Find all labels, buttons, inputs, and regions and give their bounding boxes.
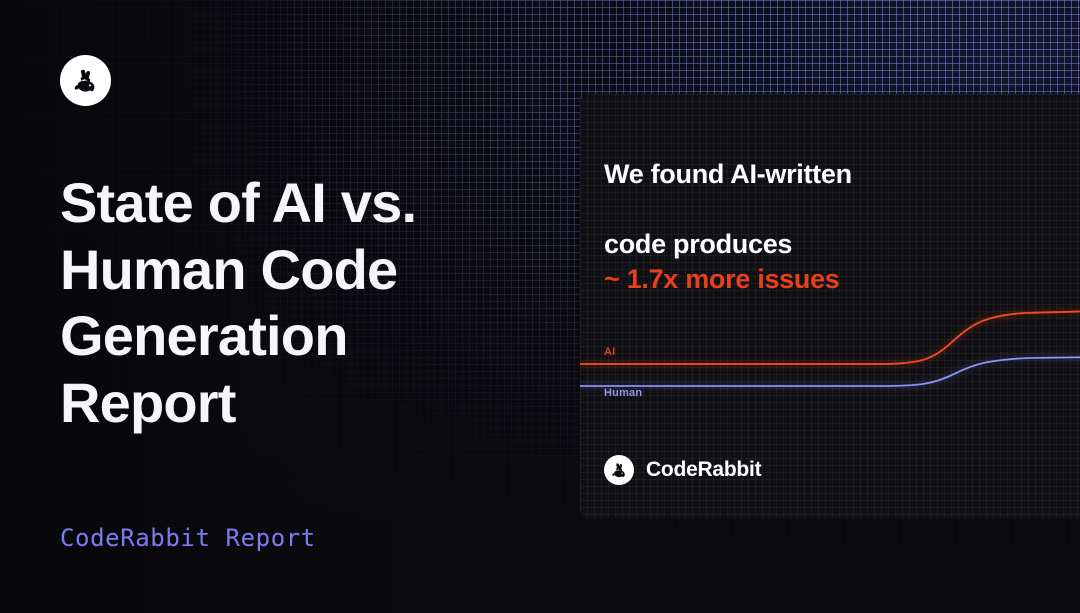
page-title: State of AI vs. Human Code Generation Re…: [60, 170, 520, 437]
card-headline-line-2: code produces: [604, 229, 792, 259]
card-headline-line-1: We found AI-written: [604, 159, 852, 189]
chart-line-human: [580, 357, 1080, 386]
chart-line-ai: [580, 311, 1080, 364]
card-footer-wordmark: CodeRabbit: [646, 458, 761, 482]
chart-legend-ai: AI: [604, 346, 615, 358]
chart-line-human-glow: [580, 357, 1080, 386]
rabbit-icon: [604, 455, 634, 485]
chart-legend-human: Human: [604, 387, 642, 399]
card-headline-accent: ~ 1.7x more issues: [604, 262, 954, 297]
issues-line-chart: [580, 294, 1080, 444]
report-card: We found AI-written code produces ~ 1.7x…: [580, 94, 1080, 518]
brand-logo[interactable]: [60, 55, 111, 106]
chart-line-ai-glow: [580, 311, 1080, 364]
rabbit-icon: [71, 66, 101, 96]
card-footer-logo[interactable]: CodeRabbit: [604, 455, 761, 485]
poster-canvas: State of AI vs. Human Code Generation Re…: [0, 0, 1080, 613]
card-content: We found AI-written code produces ~ 1.7x…: [580, 94, 1080, 518]
report-label: CodeRabbit Report: [60, 524, 316, 552]
